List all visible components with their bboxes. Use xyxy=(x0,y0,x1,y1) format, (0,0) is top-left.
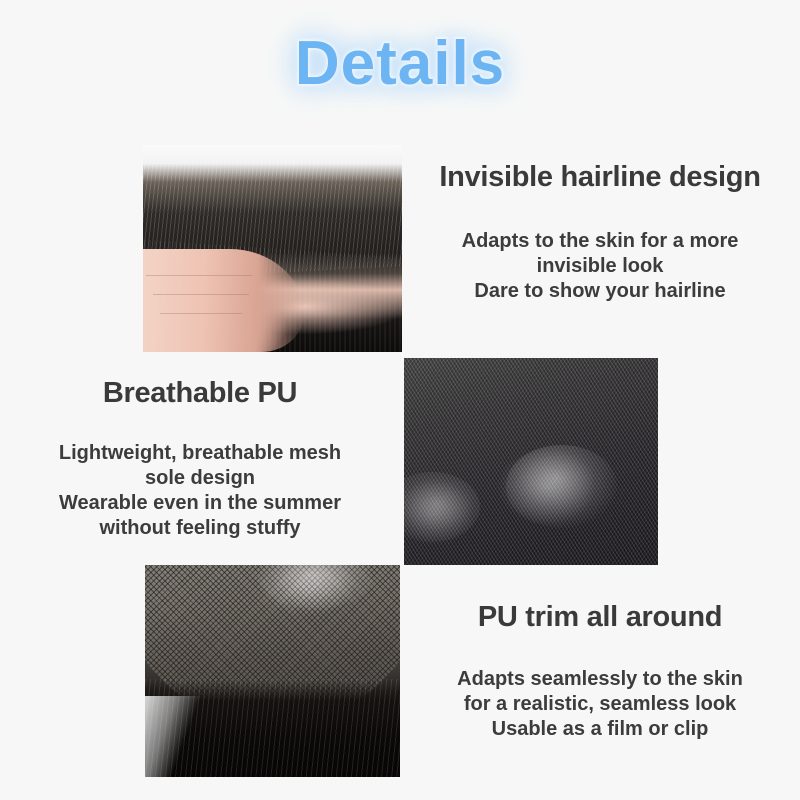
finger-crease xyxy=(160,313,242,314)
body-line: Wearable even in the summer xyxy=(4,491,396,516)
background-highlight xyxy=(145,696,206,777)
section-trim: PU trim all around Adapts seamlessly to … xyxy=(404,600,796,742)
body-line: Adapts to the skin for a more xyxy=(404,229,796,254)
section-trim-body: Adapts seamlessly to the skin for a real… xyxy=(404,667,796,742)
finger-crease xyxy=(146,275,252,276)
section-hairline-heading: Invisible hairline design xyxy=(404,160,796,195)
section-breathable-body: Lightweight, breathable mesh sole design… xyxy=(4,441,396,541)
section-breathable: Breathable PU Lightweight, breathable me… xyxy=(4,376,396,541)
body-line: for a realistic, seamless look xyxy=(404,692,796,717)
page-title: Details xyxy=(295,28,505,99)
body-line: Usable as a film or clip xyxy=(404,717,796,742)
pu-texture-photo xyxy=(404,358,658,565)
body-line: sole design xyxy=(4,466,396,491)
section-breathable-heading: Breathable PU xyxy=(4,376,396,411)
finger-crease xyxy=(153,294,249,295)
hairline-closeup-photo xyxy=(143,145,402,352)
body-line: Adapts seamlessly to the skin xyxy=(404,667,796,692)
product-details-page: Details Invisible hairline design Adapts… xyxy=(0,0,800,800)
body-line: Lightweight, breathable mesh xyxy=(4,441,396,466)
section-trim-heading: PU trim all around xyxy=(404,600,796,635)
page-title-container: Details xyxy=(0,28,800,99)
pu-trim-base-photo xyxy=(145,565,400,777)
section-hairline: Invisible hairline design Adapts to the … xyxy=(404,160,796,304)
body-line: Dare to show your hairline xyxy=(404,279,796,304)
pu-gloss-highlight xyxy=(506,445,618,528)
section-hairline-body: Adapts to the skin for a more invisible … xyxy=(404,229,796,304)
body-line: without feeling stuffy xyxy=(4,516,396,541)
body-line: invisible look xyxy=(404,254,796,279)
